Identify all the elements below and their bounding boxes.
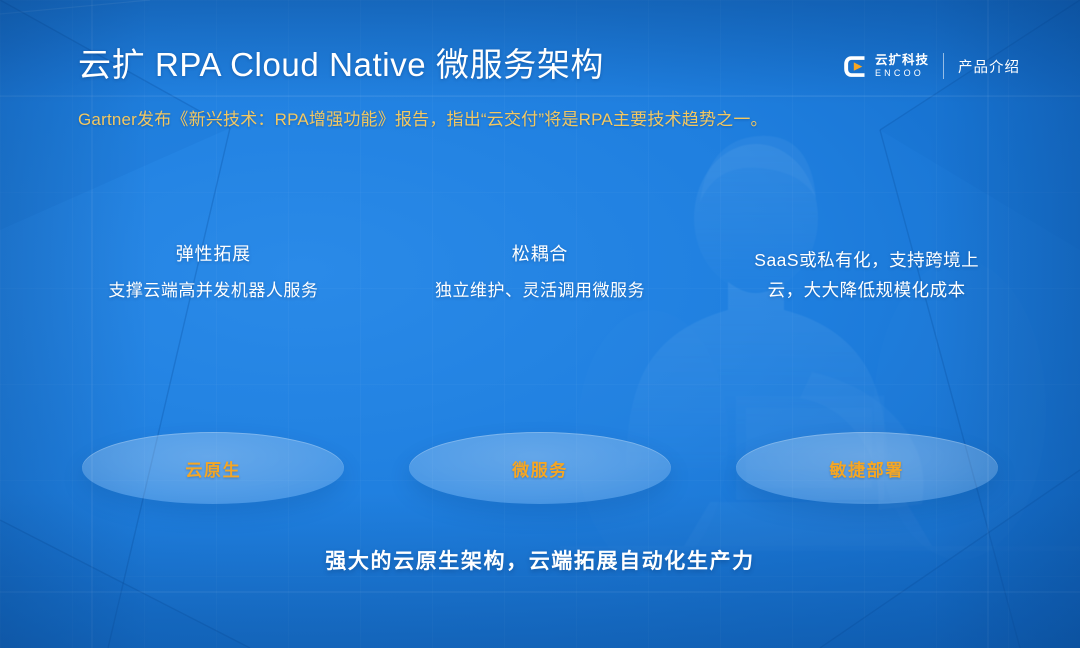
feature-body-2: 独立维护、灵活调用微服务 — [391, 278, 690, 304]
platter-label-3: 敏捷部署 — [829, 456, 903, 481]
feature-body-1: 支撑云端高并发机器人服务 — [64, 278, 363, 304]
feature-heading-2: 松耦合 — [391, 245, 690, 263]
bottom-caption: 强大的云原生架构，云端拓展自动化生产力 — [0, 545, 1080, 575]
feature-column-1: 弹性拓展 支撑云端高并发机器人服务 — [50, 245, 377, 305]
brand-name-cn: 云扩科技 — [875, 54, 929, 67]
brand-wordmark: 云扩科技 ENCOO — [875, 54, 929, 79]
slide-canvas: 云扩 RPA Cloud Native 微服务架构 Gartner发布《新兴技术… — [0, 0, 1080, 648]
platter-label-2: 微服务 — [512, 456, 568, 481]
brand-logo: 云扩科技 ENCOO — [843, 53, 929, 80]
platter-cell-2: 微服务 — [377, 428, 704, 508]
platter-cell-1: 云原生 — [50, 428, 377, 508]
platter-cell-3: 敏捷部署 — [703, 428, 1030, 508]
feature-body-3: SaaS或私有化，支持跨境上云，大大降低规模化成本 — [742, 245, 992, 305]
platter-label-1: 云原生 — [185, 456, 241, 481]
brand-divider — [943, 53, 944, 79]
feature-columns: 弹性拓展 支撑云端高并发机器人服务 松耦合 独立维护、灵活调用微服务 SaaS或… — [50, 245, 1030, 305]
platter-row: 云原生 微服务 敏捷部署 — [50, 428, 1030, 508]
brand-name-en: ENCOO — [875, 69, 929, 78]
feature-column-2: 松耦合 独立维护、灵活调用微服务 — [377, 245, 704, 305]
brand-block: 云扩科技 ENCOO 产品介绍 — [843, 48, 1020, 84]
page-subtitle: Gartner发布《新兴技术：RPA增强功能》报告，指出“云交付”将是RPA主要… — [78, 105, 1020, 130]
brand-section-label: 产品介绍 — [958, 56, 1020, 77]
encoo-c-play-logo-icon — [843, 53, 868, 80]
feature-column-3: SaaS或私有化，支持跨境上云，大大降低规模化成本 — [703, 245, 1030, 305]
feature-heading-1: 弹性拓展 — [64, 245, 363, 263]
